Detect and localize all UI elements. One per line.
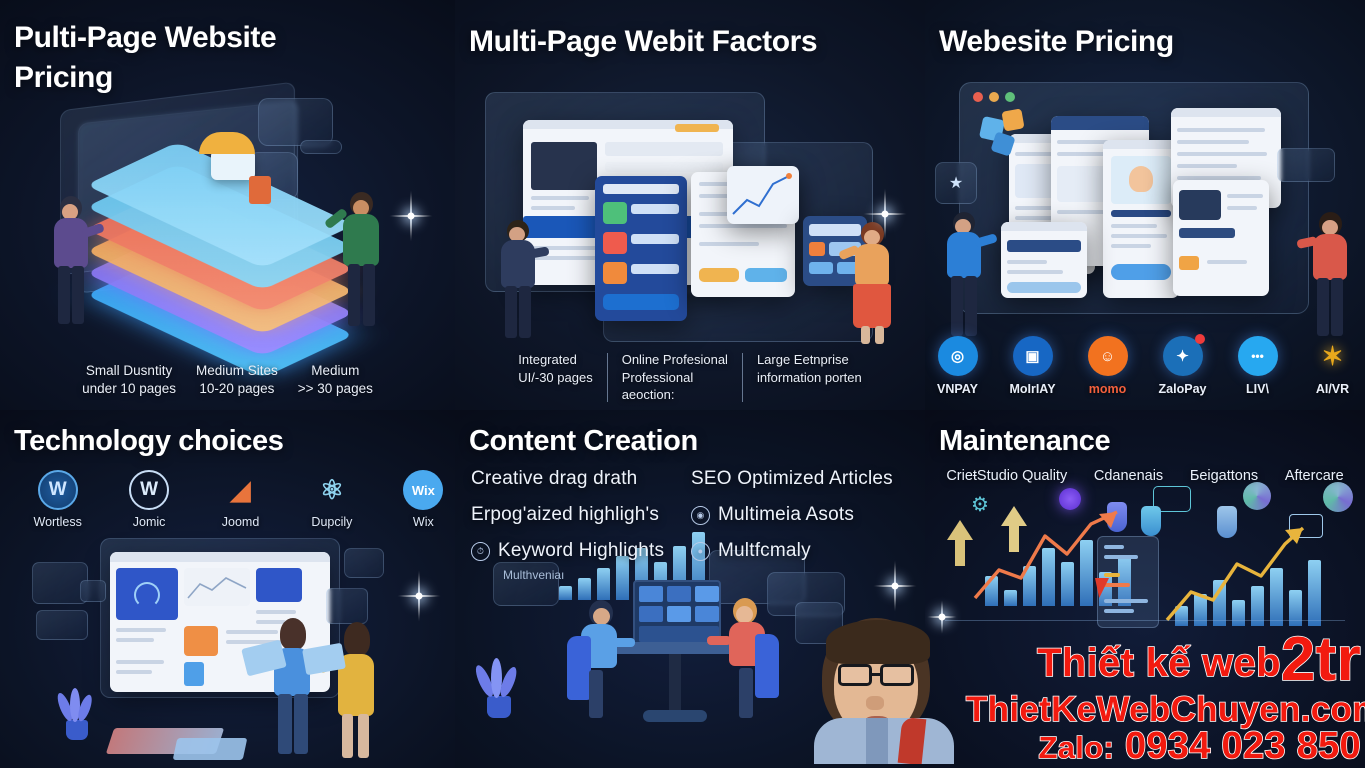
person-blue-4 [266, 618, 322, 758]
person-right-3 [1307, 212, 1359, 340]
watermark-overlay: Thiết kế web2tr ThietKeWebChuyen.com Zal… [800, 590, 1365, 768]
caption-item: Small Dusntity under 10 pages [72, 362, 186, 398]
payment-label: VNPAY [925, 382, 990, 396]
caption-item: Large Eetnprise information porten [747, 351, 872, 386]
caption-line1: Online Profesional [622, 351, 728, 369]
caption-line1: Medium [298, 362, 373, 380]
maintenance-label: Aftercare [1285, 468, 1344, 484]
content-list-right: SEO Optimized Articles ◉ Multimeia Asots… [691, 468, 921, 576]
page-title-1: Pulti-Page Website Pricing [14, 18, 276, 97]
person-right-2 [849, 222, 901, 344]
page-title-5: Content Creation [469, 422, 698, 460]
tech-label: Joomd [209, 515, 272, 529]
list-item-sublabel: Multhveniaı [503, 568, 696, 582]
maintenance-label: CrieŧStudio Quality [946, 468, 1067, 484]
wordpress-icon: W [38, 470, 78, 510]
person-left-3 [941, 212, 993, 340]
float-list-card [36, 610, 88, 640]
table-base [643, 710, 707, 722]
paper-sheet-2 [173, 738, 248, 760]
content-list-left: Creative drag drath Erpog'aized highligh… [471, 468, 696, 582]
window-dot-red [973, 92, 983, 102]
caption-item: Medium >> 30 pages [288, 362, 383, 398]
maintenance-label: Бeigattons [1190, 468, 1258, 484]
list-item-label: SEO Optimized Articles [691, 468, 893, 490]
tech-joomd[interactable]: ◢ Joomd [209, 470, 272, 529]
globe-icon [1243, 482, 1271, 510]
list-item: ⏱ Keyword Highlights [471, 540, 696, 562]
list-item: Erpog'aized highligh's [471, 504, 696, 526]
line-graph-icon [186, 574, 248, 602]
tech-jomic[interactable]: W Jomic [117, 470, 180, 529]
glasses-left [838, 664, 872, 686]
tech-wix[interactable]: Wix Wix [392, 470, 455, 529]
glasses-bridge [872, 673, 880, 676]
tech-label: Wortless [26, 515, 89, 529]
panel-webesite-pricing: Webesite Pricing [925, 0, 1365, 410]
hair-top [826, 620, 930, 664]
list-item: Creative drag drath [471, 468, 696, 490]
list-item: SEO Optimized Articles [691, 468, 921, 490]
payment-label: LIV\ [1225, 382, 1290, 396]
caption-item: Integrated UI/-30 pages [508, 351, 602, 386]
momo-icon: ☺ [1088, 336, 1128, 376]
clock-icon: ⏱ [471, 542, 490, 561]
stack-box [211, 150, 255, 180]
page-title-2: Multi-Page Webit Factors [469, 22, 817, 62]
person-yellow-4 [330, 622, 386, 760]
page-title-3: Webesite Pricing [939, 22, 1174, 62]
float-chart-card [326, 588, 368, 624]
plant-decoration-2 [477, 658, 517, 718]
person-seated-left [567, 600, 629, 720]
wordpress-outline-icon: W [129, 470, 169, 510]
circle-icon: ● [691, 542, 710, 561]
watermark-line-1: Thiết kế web2tr [966, 628, 1361, 691]
mobile-card [595, 176, 687, 321]
watermark-phone: 0934 023 850 [1125, 725, 1361, 767]
caption-line1: Large Eetnprise [757, 351, 862, 369]
page-title-4: Technology choices [14, 422, 283, 460]
caption-item: Medium Sites 10-20 pages [186, 362, 288, 398]
tooltip-bubble [1277, 148, 1335, 182]
payment-label: momo [1075, 382, 1140, 396]
tech-label: Dupcily [300, 515, 363, 529]
shirt-placket [866, 718, 888, 764]
arrow-up-gold [947, 520, 973, 540]
payment-moirlay[interactable]: ▣ MoIrIAY [1000, 336, 1065, 396]
list-item-label: Erpog'aized highligh's [471, 504, 659, 526]
panel-technology-choices: Technology choices W Wortless W Jomic ◢ … [0, 410, 455, 768]
payment-label: MoIrIAY [1000, 382, 1065, 396]
window-dot-green [1005, 92, 1015, 102]
maintenance-labels-row: CrieŧStudio Quality Cdanenais Бeigattons… [925, 468, 1365, 484]
caption-item: Online Profesional Professional aeoction… [612, 351, 738, 404]
page-title-6: Maintenance [939, 422, 1110, 460]
line-chart-icon [727, 166, 799, 224]
float-mini-card [80, 580, 106, 602]
watermark-line-3: Zalo: 0934 023 850 [966, 727, 1361, 766]
tag-icon-2 [1141, 506, 1161, 536]
person-right-1 [338, 192, 392, 340]
site-card-4 [1173, 180, 1269, 296]
payment-label: ZaloPay [1150, 382, 1215, 396]
chat-icon: ••• [1238, 336, 1278, 376]
table-leg [669, 654, 681, 716]
person-left-1 [48, 196, 100, 336]
person-seated-right [721, 598, 783, 720]
float-square-orange [1001, 108, 1024, 131]
caption-line1: Integrated [518, 351, 592, 369]
payment-label: AI/VR [1300, 382, 1365, 396]
person-left-2 [495, 220, 547, 342]
watermark-zalo-label: Zalo: [1039, 730, 1115, 765]
caption-line2: Professional [622, 369, 728, 387]
arrow-up-gold-2 [1001, 506, 1027, 526]
list-item: ◉ Multimeia Asots [691, 504, 921, 526]
site-card-profile [1103, 140, 1179, 298]
caption-line2: UI/-30 pages [518, 369, 592, 387]
caption-divider [742, 353, 743, 402]
caption-line1: Medium Sites [196, 362, 278, 380]
site-card-5 [1001, 222, 1087, 298]
watermark-headline: Thiết kế web [1037, 641, 1281, 685]
zalopay-icon: ✦ [1163, 336, 1203, 376]
panel-multi-page-webit-factors: Multi-Page Webit Factors [455, 0, 925, 410]
caption-divider [607, 353, 608, 402]
watermark-price: 2tr [1281, 625, 1361, 694]
list-item-label: Multfcmaly [718, 540, 811, 562]
notification-dot [1195, 334, 1205, 344]
nose [866, 696, 884, 710]
technology-icons-row: W Wortless W Jomic ◢ Joomd ⚛ Dupcily Wix [0, 470, 455, 529]
stack-tag [249, 176, 271, 204]
payment-icons-row: ◎ VNPAY ▣ MoIrIAY ☺ momo ✦ ZaloPay [925, 336, 1365, 396]
sparkle-icon [397, 570, 441, 622]
shield-badge: ★ [935, 162, 977, 204]
glasses-right [880, 664, 914, 686]
list-item-label: Creative drag drath [471, 468, 637, 490]
avatar-photo [804, 604, 959, 764]
list-item-label: Keyword Highlights [498, 540, 664, 562]
circle-icon: ◉ [691, 506, 710, 525]
vnpay-icon: ◎ [938, 336, 978, 376]
caption-line2: 10-20 pages [196, 380, 278, 398]
infographic-canvas: Pulti-Page Website Pricing [0, 0, 1365, 768]
drupal-atom-icon: ⚛ [312, 470, 352, 510]
payment-aivr[interactable]: ✶ AI/VR [1300, 336, 1365, 396]
wix-icon: Wix [403, 470, 443, 510]
layer-stack [95, 140, 345, 310]
glass-card-top [258, 98, 333, 146]
maintenance-label: Cdanenais [1094, 468, 1163, 484]
tech-dupcily[interactable]: ⚛ Dupcily [300, 470, 363, 529]
chair-back [567, 636, 591, 700]
panel-multi-page-website-pricing: Pulti-Page Website Pricing [0, 0, 455, 410]
captions-row-1: Small Dusntity under 10 pages Medium Sit… [0, 362, 455, 398]
donut-chart-icon [134, 582, 160, 608]
backpack-strap [898, 717, 927, 764]
watermark-text-block: Thiết kế web2tr ThietKeWebChuyen.com Zal… [966, 628, 1361, 766]
caption-line3: aeoction: [622, 386, 728, 404]
payment-momo[interactable]: ☺ momo [1075, 336, 1140, 396]
list-item-label: Multimeia Asots [718, 504, 854, 526]
caption-line2: >> 30 pages [298, 380, 373, 398]
moirlay-icon: ▣ [1013, 336, 1053, 376]
caption-line2: under 10 pages [82, 380, 176, 398]
chair-back-2 [755, 634, 779, 698]
arrow-up-gold-stem [955, 540, 965, 566]
globe-icon-2 [1323, 482, 1353, 512]
arrow-up-gold-2-stem [1009, 526, 1019, 552]
shield-icon: ★ [949, 173, 963, 193]
aivr-icon: ✶ [1313, 336, 1353, 376]
tech-wortless[interactable]: W Wortless [26, 470, 89, 529]
list-item: ● Multfcmaly [691, 540, 921, 562]
tech-label: Wix [392, 515, 455, 529]
window-dot-yellow [989, 92, 999, 102]
caption-line2: information porten [757, 369, 862, 387]
caption-line1: Small Dusntity [82, 362, 176, 380]
chart-card [727, 166, 799, 224]
plant-decoration [56, 688, 94, 740]
sparkle-icon [389, 190, 433, 242]
tech-label: Jomic [117, 515, 180, 529]
watermark-domain: ThietKeWebChuyen.com [966, 692, 1361, 728]
joomla-icon: ◢ [221, 470, 261, 510]
captions-row-2: Integrated UI/-30 pages Online Profesion… [455, 351, 925, 404]
payment-vnpay[interactable]: ◎ VNPAY [925, 336, 990, 396]
payment-zalopay[interactable]: ✦ ZaloPay [1150, 336, 1215, 396]
float-bubble-card [344, 548, 384, 578]
payment-liv[interactable]: ••• LIV\ [1225, 336, 1290, 396]
